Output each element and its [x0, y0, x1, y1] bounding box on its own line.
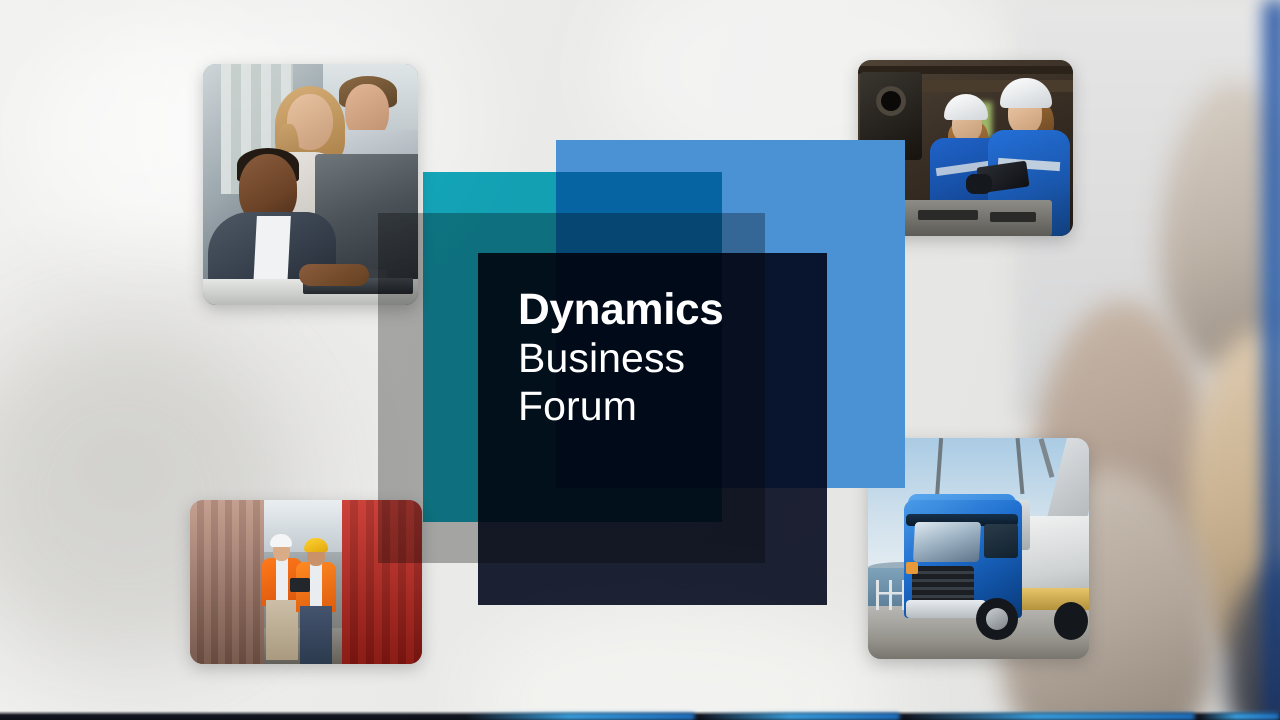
worker-two-jeans — [300, 606, 332, 664]
title-line-business: Business — [518, 334, 848, 382]
container-yard-tablet — [290, 578, 310, 592]
truck-front-wheel-hub — [986, 608, 1008, 630]
background-right-edge — [1264, 0, 1280, 720]
factory-machine-dial — [876, 86, 906, 116]
office-man-shirt — [253, 216, 291, 288]
truck-grille — [912, 566, 974, 604]
truck-side-window — [984, 524, 1018, 558]
factory-workbench-slot — [918, 210, 978, 220]
worker-one-shirt — [276, 558, 288, 602]
factory-workbench-slot — [990, 212, 1036, 222]
title-line-dynamics: Dynamics — [518, 286, 848, 334]
truck-windshield — [913, 522, 981, 562]
bottom-glow-highlight — [905, 713, 1195, 720]
worker-one-white-hard-hat — [270, 534, 292, 547]
presentation-slide: Dynamics Business Forum — [0, 0, 1280, 720]
bottom-glow-highlight — [700, 713, 900, 720]
title-line-forum: Forum — [518, 382, 848, 430]
worker-one-trousers — [266, 600, 298, 660]
office-hands — [299, 264, 369, 286]
factory-glove — [966, 174, 992, 194]
container-left-shading — [190, 500, 264, 664]
bottom-glow-highlight — [1200, 713, 1280, 720]
truck-rear-wheel — [1054, 602, 1088, 640]
bottom-glow-highlight — [465, 713, 695, 720]
worker-two-shirt — [310, 562, 322, 608]
truck-bumper — [906, 600, 986, 618]
slide-title: Dynamics Business Forum — [518, 286, 848, 430]
worker-two-yellow-hard-hat — [304, 538, 328, 552]
truck-indicator-lamp — [906, 562, 918, 574]
